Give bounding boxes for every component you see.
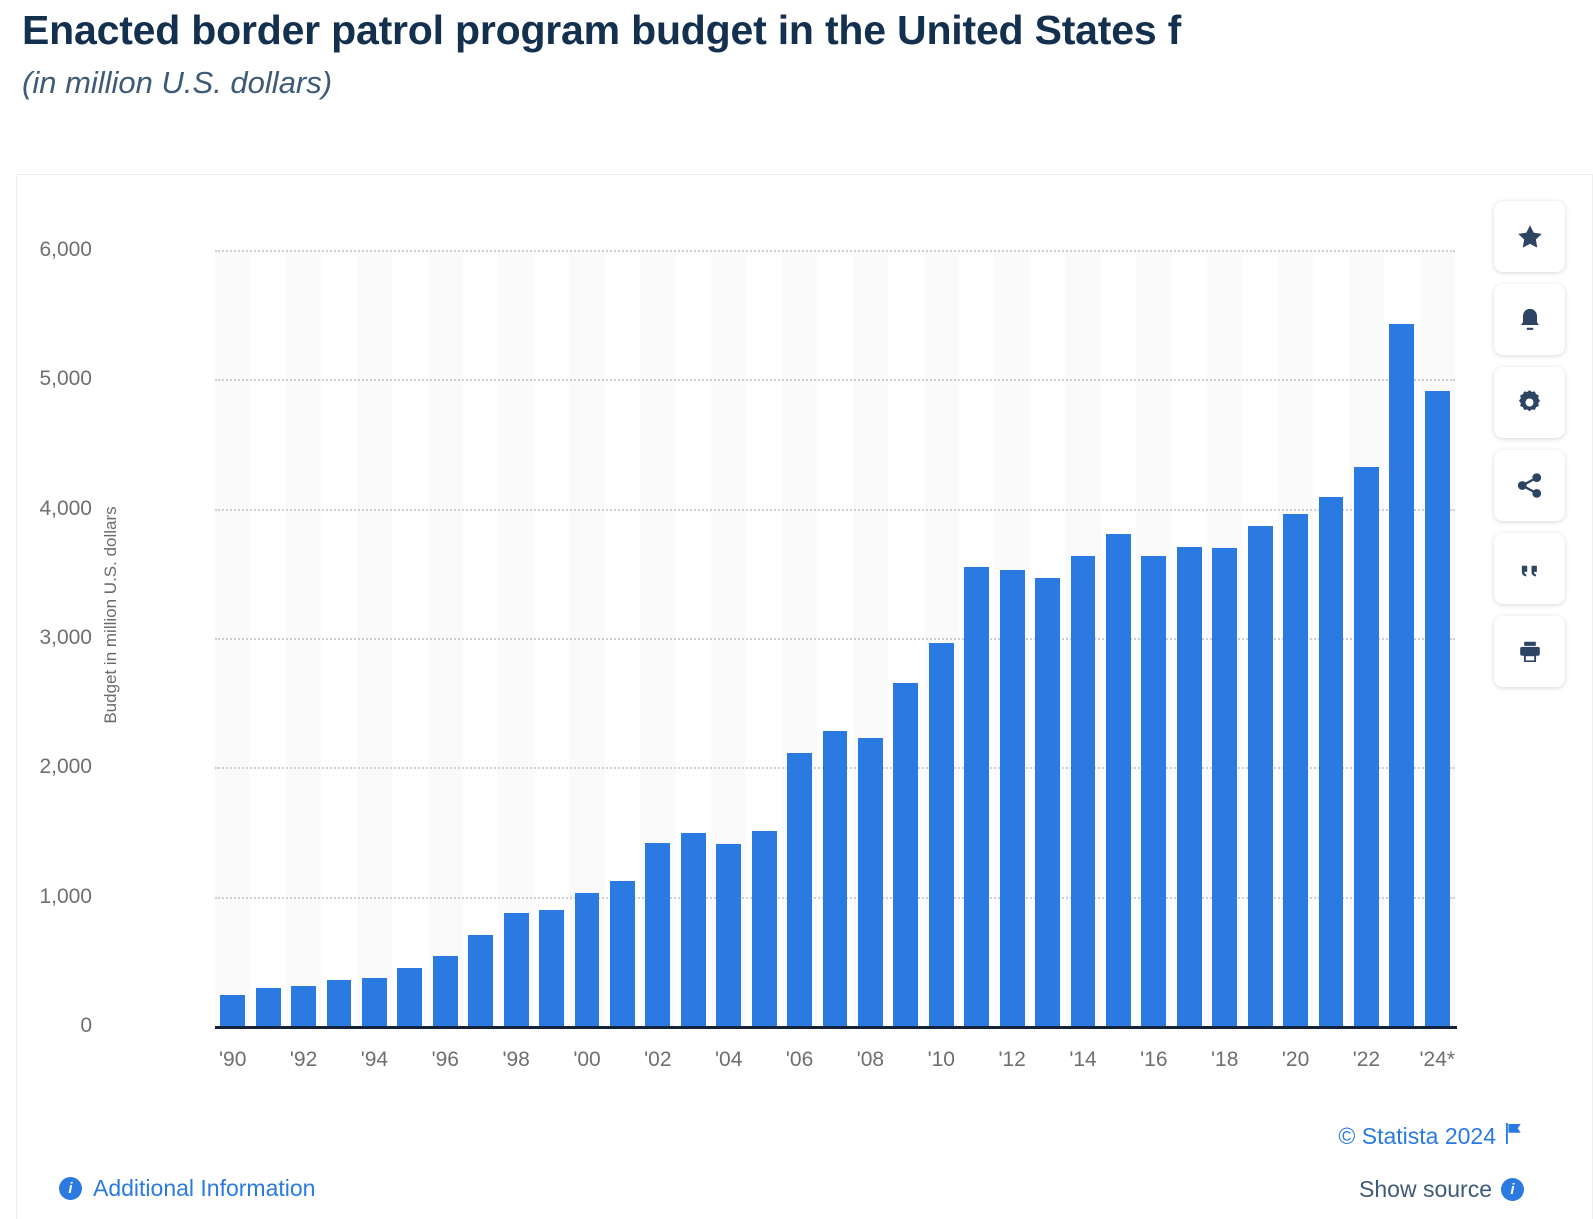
bar[interactable] bbox=[256, 988, 281, 1026]
bar[interactable] bbox=[1389, 324, 1414, 1026]
statista-copyright: © Statista 2024 bbox=[1338, 1123, 1524, 1150]
alert-bell-icon bbox=[1516, 306, 1544, 334]
print-icon bbox=[1516, 638, 1544, 666]
y-tick-label: 5,000 bbox=[2, 367, 92, 391]
bar[interactable] bbox=[610, 881, 635, 1026]
page-title: Enacted border patrol program budget in … bbox=[22, 6, 1593, 54]
x-tick-label: '08 bbox=[857, 1048, 884, 1072]
chart-footer-right: © Statista 2024 Show source i bbox=[1338, 1123, 1524, 1203]
y-axis-title: Budget in million U.S. dollars bbox=[101, 455, 121, 775]
x-tick-label: '24* bbox=[1420, 1048, 1456, 1072]
y-tick-label: 2,000 bbox=[2, 755, 92, 779]
favorite-icon-button[interactable] bbox=[1494, 201, 1565, 272]
bar[interactable] bbox=[681, 833, 706, 1026]
bar[interactable] bbox=[1319, 497, 1344, 1026]
x-tick-label: '92 bbox=[290, 1048, 317, 1072]
bar[interactable] bbox=[539, 910, 564, 1026]
settings-gear-icon-button[interactable] bbox=[1494, 367, 1565, 438]
bar[interactable] bbox=[575, 893, 600, 1026]
gear-icon bbox=[1515, 388, 1544, 417]
bar[interactable] bbox=[1177, 547, 1202, 1026]
bar[interactable] bbox=[1283, 514, 1308, 1026]
y-tick-label: 6,000 bbox=[2, 238, 92, 262]
citation-quote-icon-button[interactable] bbox=[1494, 533, 1565, 604]
bar[interactable] bbox=[1141, 556, 1166, 1026]
copyright-text: © Statista 2024 bbox=[1338, 1123, 1496, 1150]
y-tick-label: 1,000 bbox=[2, 885, 92, 909]
x-tick-label: '12 bbox=[998, 1048, 1025, 1072]
bar[interactable] bbox=[1354, 467, 1379, 1026]
info-icon: i bbox=[59, 1177, 82, 1200]
bar[interactable] bbox=[504, 913, 529, 1026]
x-tick-label: '00 bbox=[573, 1048, 600, 1072]
favorite-icon bbox=[1515, 222, 1545, 252]
bar[interactable] bbox=[1071, 556, 1096, 1026]
chart-card: Budget in million U.S. dollars 01,0002,0… bbox=[16, 174, 1593, 1219]
chart-action-toolbar[interactable] bbox=[1494, 201, 1565, 687]
flag-icon bbox=[1505, 1123, 1524, 1150]
x-tick-label: '22 bbox=[1353, 1048, 1380, 1072]
bar[interactable] bbox=[327, 980, 352, 1026]
bar[interactable] bbox=[893, 683, 918, 1027]
additional-information-label: Additional Information bbox=[93, 1175, 315, 1202]
bar[interactable] bbox=[291, 986, 316, 1026]
x-tick-label: '18 bbox=[1211, 1048, 1238, 1072]
bar[interactable] bbox=[752, 831, 777, 1026]
share-icon bbox=[1515, 471, 1544, 500]
bar[interactable] bbox=[858, 738, 883, 1026]
bar[interactable] bbox=[468, 935, 493, 1026]
x-axis-line bbox=[215, 1026, 1457, 1029]
chart-subtitle: (in million U.S. dollars) bbox=[22, 64, 1593, 101]
x-tick-label: '02 bbox=[644, 1048, 671, 1072]
bar[interactable] bbox=[645, 843, 670, 1026]
y-tick-label: 4,000 bbox=[2, 497, 92, 521]
x-tick-label: '04 bbox=[715, 1048, 742, 1072]
show-source-label: Show source bbox=[1359, 1176, 1492, 1203]
x-tick-label: '16 bbox=[1140, 1048, 1167, 1072]
bar[interactable] bbox=[1212, 548, 1237, 1026]
bar[interactable] bbox=[787, 753, 812, 1026]
x-tick-label: '06 bbox=[786, 1048, 813, 1072]
bar[interactable] bbox=[929, 643, 954, 1026]
y-tick-label: 3,000 bbox=[2, 626, 92, 650]
bar[interactable] bbox=[716, 844, 741, 1026]
bar[interactable] bbox=[964, 567, 989, 1026]
x-tick-label: '96 bbox=[432, 1048, 459, 1072]
bar[interactable] bbox=[1000, 570, 1025, 1026]
alert-bell-icon-button[interactable] bbox=[1494, 284, 1565, 355]
y-tick-label: 0 bbox=[2, 1014, 92, 1038]
additional-information-button[interactable]: i Additional Information bbox=[59, 1175, 315, 1202]
chart-header: Enacted border patrol program budget in … bbox=[0, 0, 1593, 102]
info-icon: i bbox=[1501, 1178, 1524, 1201]
bar[interactable] bbox=[1248, 526, 1273, 1026]
print-icon-button[interactable] bbox=[1494, 616, 1565, 687]
bar[interactable] bbox=[1425, 391, 1450, 1026]
bar[interactable] bbox=[1035, 578, 1060, 1026]
show-source-button[interactable]: Show source i bbox=[1359, 1176, 1524, 1203]
bar[interactable] bbox=[433, 956, 458, 1026]
bar-series bbox=[215, 250, 1455, 1026]
x-tick-label: '94 bbox=[361, 1048, 388, 1072]
bar[interactable] bbox=[397, 968, 422, 1026]
chart-plot-area: Budget in million U.S. dollars 01,0002,0… bbox=[17, 175, 1477, 1075]
bar[interactable] bbox=[220, 995, 245, 1026]
x-tick-label: '20 bbox=[1282, 1048, 1309, 1072]
bar[interactable] bbox=[823, 731, 848, 1026]
x-tick-label: '14 bbox=[1069, 1048, 1096, 1072]
x-tick-label: '90 bbox=[219, 1048, 246, 1072]
quote-icon bbox=[1516, 555, 1544, 583]
share-icon-button[interactable] bbox=[1494, 450, 1565, 521]
x-tick-label: '10 bbox=[928, 1048, 955, 1072]
bar[interactable] bbox=[362, 978, 387, 1027]
x-tick-label: '98 bbox=[502, 1048, 529, 1072]
bar[interactable] bbox=[1106, 534, 1131, 1026]
